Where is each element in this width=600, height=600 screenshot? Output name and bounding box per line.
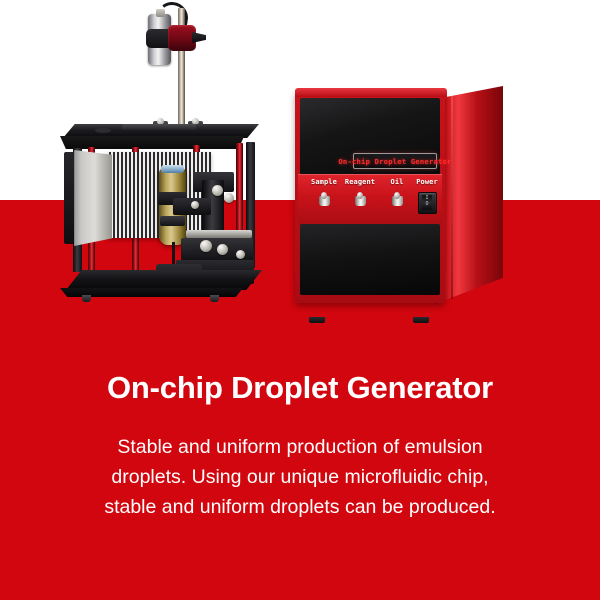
control-power[interactable]: Power I O: [403, 178, 451, 214]
adjust-knob-3: [191, 201, 199, 209]
stage-rail: [186, 230, 252, 238]
port-nozzle-oil[interactable]: [392, 192, 403, 206]
top-plate-slot: [121, 124, 196, 130]
device-nameplate-label: On-chip Droplet Generator: [338, 157, 451, 166]
base-foot-right: [210, 295, 219, 302]
objective-window: [161, 165, 184, 173]
port-nozzle-sample[interactable]: [319, 192, 330, 206]
device-foot-right: [413, 317, 429, 323]
left-module-edge: [64, 152, 74, 244]
power-switch[interactable]: I O: [418, 192, 437, 214]
microfluidic-optical-rig-image: [60, 2, 285, 314]
adjust-knob-4: [200, 240, 212, 252]
lens-holder: [168, 25, 196, 51]
page-title: On-chip Droplet Generator: [0, 370, 600, 406]
camera-connector: [156, 9, 165, 17]
device-lower-face: [300, 224, 440, 295]
device-top-panel: [295, 88, 447, 97]
control-label-power: Power: [403, 178, 451, 186]
port-nozzle-reagent[interactable]: [355, 192, 366, 206]
top-plate-hole: [95, 128, 111, 133]
base-foot-left: [82, 295, 91, 302]
adjust-knob-2: [224, 193, 234, 203]
device-foot-left: [309, 317, 325, 323]
power-switch-off-marking: O: [422, 201, 432, 207]
product-banner: On-chip Droplet Generator Sample Reagent…: [0, 0, 600, 600]
droplet-generator-device: On-chip Droplet Generator Sample Reagent…: [285, 86, 515, 318]
page-description: Stable and uniform production of emulsio…: [100, 432, 500, 522]
power-rocker[interactable]: I O: [422, 195, 432, 210]
adjust-knob-1: [212, 185, 223, 196]
objective-lower-band: [160, 216, 185, 226]
adjust-knob-5: [217, 244, 228, 255]
left-module-panel: [68, 150, 112, 246]
base-plate: [66, 270, 262, 290]
device-side-seam: [451, 89, 453, 299]
lens-nose: [192, 32, 206, 43]
device-nameplate: On-chip Droplet Generator: [353, 153, 437, 169]
adjust-knob-6: [236, 250, 245, 259]
